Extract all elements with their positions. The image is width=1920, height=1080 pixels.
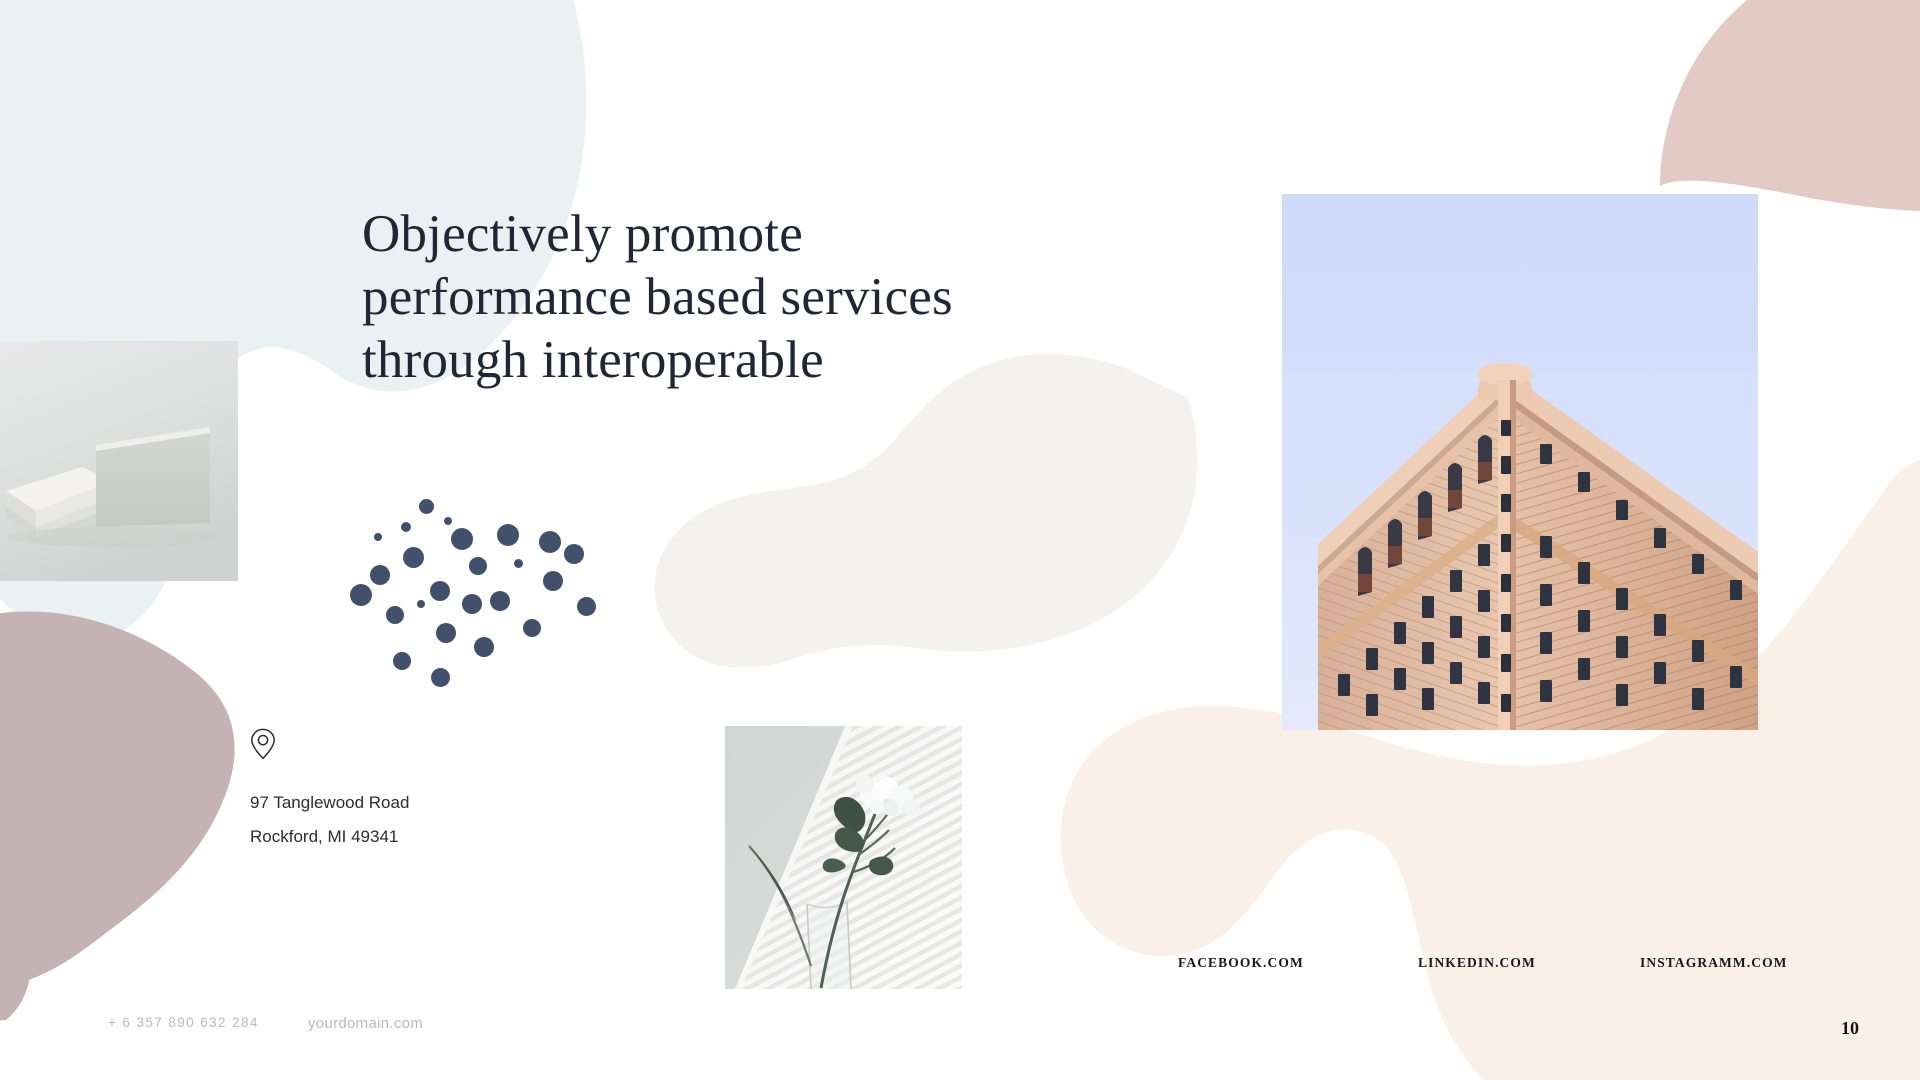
headline-line-2: performance based services [362, 266, 1122, 329]
blob-bottom-left-tail [0, 906, 30, 1025]
pattern-dot [393, 652, 411, 670]
pattern-dot [523, 619, 541, 637]
headline-line-1: Objectively promote [362, 203, 1122, 266]
pattern-dot [474, 637, 494, 657]
pattern-dot [444, 517, 452, 525]
business-cards-photo [0, 341, 238, 581]
pattern-dot [543, 571, 563, 591]
address-line-2: Rockford, MI 49341 [250, 820, 409, 854]
pattern-dot [403, 547, 424, 568]
blob-center [654, 354, 1197, 668]
pattern-dot [462, 594, 482, 614]
presentation-slide: Objectively promote performance based se… [0, 0, 1920, 1080]
pattern-dot [430, 581, 450, 601]
blob-top-right [1660, 0, 1920, 212]
blob-bottom-left [0, 612, 235, 990]
pattern-dot [417, 600, 425, 608]
pattern-dot [539, 531, 561, 553]
pattern-dot [514, 559, 523, 568]
address-block: 97 Tanglewood Road Rockford, MI 49341 [250, 728, 409, 854]
pattern-dot [497, 524, 519, 546]
pattern-dot [577, 597, 596, 616]
social-link-instagram[interactable]: INSTAGRAMM.COM [1640, 955, 1788, 971]
pattern-dot [469, 557, 487, 575]
social-link-facebook[interactable]: FACEBOOK.COM [1178, 955, 1304, 971]
pattern-dot [350, 584, 372, 606]
footer-domain: yourdomain.com [308, 1015, 423, 1032]
pattern-dot [451, 528, 473, 550]
pattern-dot [370, 565, 390, 585]
page-title: Objectively promote performance based se… [362, 203, 1122, 392]
footer-phone: + 6 357 890 632 284 [108, 1015, 259, 1030]
location-pin-icon [250, 728, 276, 760]
pattern-dot [564, 544, 584, 564]
dot-pattern-decoration [360, 485, 660, 700]
pattern-dot [436, 623, 456, 643]
social-link-linkedin[interactable]: LINKEDIN.COM [1418, 955, 1536, 971]
pattern-dot [490, 591, 510, 611]
pattern-dot [419, 499, 434, 514]
address-line-1: 97 Tanglewood Road [250, 786, 409, 820]
pattern-dot [386, 606, 404, 624]
flower-vase-photo [725, 726, 962, 989]
pattern-dot [374, 533, 382, 541]
page-number: 10 [1841, 1018, 1859, 1039]
flatiron-building-photo [1282, 194, 1758, 730]
pattern-dot [401, 522, 411, 532]
pattern-dot [431, 668, 450, 687]
headline-line-3: through interoperable [362, 329, 1122, 392]
